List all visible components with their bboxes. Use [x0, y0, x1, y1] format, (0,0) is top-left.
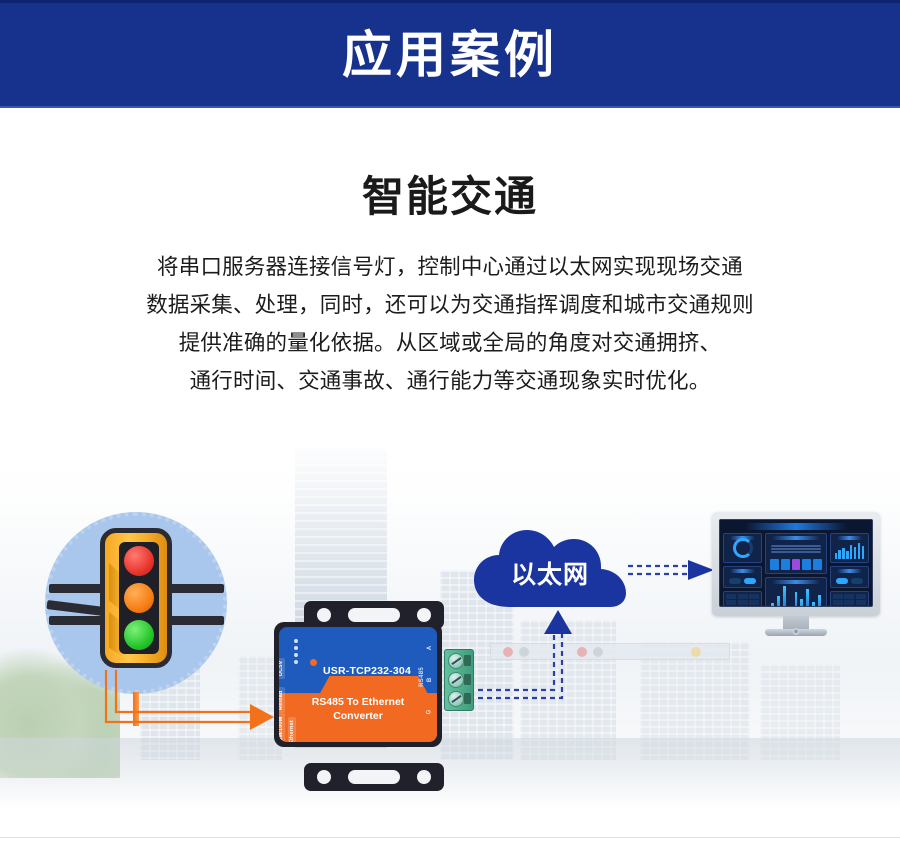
bar [783, 586, 786, 607]
bar [795, 592, 798, 607]
bar [835, 553, 837, 558]
tile-grid [766, 556, 825, 573]
bracket-hole [317, 608, 331, 622]
dashboard-column-left [723, 533, 762, 607]
terminal-port [464, 693, 471, 704]
terminal-pin-a-label: A [427, 646, 433, 650]
data-table [831, 592, 868, 608]
bar [842, 548, 844, 558]
toggle-row [724, 587, 761, 588]
table-row [833, 607, 866, 608]
terminal-port [464, 674, 471, 685]
bar [846, 551, 848, 558]
table-row [833, 594, 866, 599]
dashboard-gauge-card [723, 533, 762, 563]
dashboard-table-card [830, 591, 869, 608]
monitor-screen [719, 519, 873, 607]
bracket-slot [348, 770, 400, 784]
bar [800, 599, 803, 607]
bar [838, 550, 840, 558]
bar [771, 603, 774, 607]
usr-logo-icon [307, 659, 323, 679]
toggle-pill [729, 578, 741, 584]
traffic-light-amber-lamp [124, 583, 154, 613]
terminal-pin-g-label: G [427, 710, 433, 715]
terminal-screw [448, 653, 464, 669]
serial-server-device: DC5V Reload 10M/100M Ethernet USR-TCP232… [268, 601, 508, 791]
logo-body [307, 666, 320, 679]
paragraph-line-3: 提供准确的量化依据。从区域或全局的角度对交通拥挤、 [70, 324, 830, 362]
bar [850, 545, 852, 558]
bar [789, 606, 792, 607]
footer-divider [0, 837, 900, 838]
device-subtitle: RS485 To Ethernet Converter [279, 695, 437, 723]
toggle-pill [851, 578, 863, 584]
bar [806, 589, 809, 607]
paragraph-line-4: 通行时间、交通事故、通行能力等交通现象实时优化。 [70, 362, 830, 400]
traffic-light-green-lamp [124, 620, 154, 650]
tile [813, 559, 822, 570]
bracket-hole [417, 608, 431, 622]
dashboard-column-right [830, 533, 869, 607]
device-rs485-label: RS485 [419, 667, 425, 687]
rs485-terminal-block [444, 649, 474, 711]
tile [781, 559, 790, 570]
logo-head [310, 659, 317, 666]
mini-bar-chart [835, 541, 864, 559]
section-paragraph: 将串口服务器连接信号灯，控制中心通过以太网实现现场交通 数据采集、处理，同时，还… [70, 248, 830, 400]
bracket-hole [417, 770, 431, 784]
donut-gauge [733, 538, 753, 558]
data-table [724, 592, 761, 608]
dashboard-overview-card [765, 533, 826, 574]
bar-chart [771, 585, 820, 607]
ethernet-cloud: 以太网 [470, 525, 630, 615]
table-row [726, 607, 759, 608]
text-block [766, 542, 825, 556]
led [294, 646, 298, 650]
device-label-dc5v: DC5V [279, 658, 285, 679]
dashed-connector-device-to-cloud [478, 608, 608, 718]
dashboard-barchart-card [765, 577, 826, 607]
bar [858, 543, 860, 559]
dashboard-minibar-card [830, 533, 869, 563]
paragraph-line-1: 将串口服务器连接信号灯，控制中心通过以太网实现现场交通 [70, 248, 830, 286]
card-header [772, 580, 819, 584]
bar [812, 602, 815, 607]
traffic-light-lamp-panel [119, 542, 159, 654]
tile-active [792, 559, 801, 570]
bar [862, 546, 864, 559]
dashboard-control-card [830, 566, 869, 588]
tile [802, 559, 811, 570]
led [294, 639, 298, 643]
device-shell: DC5V Reload 10M/100M Ethernet USR-TCP232… [274, 622, 442, 747]
terminal-pin-b-label: B [427, 678, 433, 682]
text-line [771, 548, 820, 550]
toggle-row [831, 587, 868, 588]
terminal-screw [448, 691, 464, 707]
gantry-signal [691, 647, 701, 657]
bracket-slot [348, 608, 400, 622]
text-line [771, 551, 820, 553]
device-subtitle-line1: RS485 To Ethernet [312, 696, 405, 708]
device-faceplate: DC5V Reload 10M/100M Ethernet USR-TCP232… [279, 627, 437, 742]
dashed-connector-cloud-to-monitor [628, 558, 718, 582]
dashboard-grid [723, 533, 869, 601]
bar [818, 595, 821, 607]
cloud-label: 以太网 [470, 555, 630, 591]
monitor-bezel [712, 512, 880, 616]
card-header [837, 536, 862, 540]
device-subtitle-line2: Converter [333, 710, 383, 722]
tile [770, 559, 779, 570]
status-tile-grid [766, 573, 825, 575]
page-root: 应用案例 智能交通 将串口服务器连接信号灯，控制中心通过以太网实现现场交通 数据… [0, 0, 900, 843]
dashboard-title-bar [745, 523, 847, 530]
dashboard-column-center [765, 533, 826, 607]
dashboard-toggle-card [723, 566, 762, 588]
paragraph-line-2: 数据采集、处理，同时，还可以为交通指挥调度和城市交通规则 [70, 286, 830, 324]
dashboard-table-card [723, 591, 762, 608]
control-center-monitor [712, 512, 880, 637]
terminal-port [464, 655, 471, 666]
card-header [837, 569, 862, 573]
bar [777, 596, 780, 607]
table-row [726, 594, 759, 599]
toggle-pill [744, 578, 756, 584]
device-status-leds [292, 639, 300, 665]
toggle-row [831, 575, 868, 587]
table-row [833, 600, 866, 605]
logo-spark [318, 660, 322, 664]
card-header [772, 536, 819, 540]
banner-title: 应用案例 [342, 30, 558, 80]
monitor-power-indicator [793, 628, 800, 635]
card-header [730, 569, 755, 573]
bracket-hole [317, 770, 331, 784]
traffic-light-red-lamp [124, 546, 154, 576]
header-banner: 应用案例 [0, 0, 900, 108]
toggle-pill [836, 578, 848, 584]
device-mount-bracket-bottom [304, 763, 444, 791]
orange-connector-arrow [100, 668, 280, 730]
terminal-screw [448, 672, 464, 688]
text-line [771, 545, 820, 547]
traffic-light-housing [100, 528, 172, 668]
led [294, 660, 298, 664]
bar [854, 547, 856, 558]
led [294, 653, 298, 657]
device-model-label: USR-TCP232-304 [323, 665, 411, 677]
toggle-row [724, 575, 761, 587]
section-title: 智能交通 [0, 163, 900, 224]
traffic-light-badge [45, 512, 227, 694]
table-row [726, 600, 759, 605]
